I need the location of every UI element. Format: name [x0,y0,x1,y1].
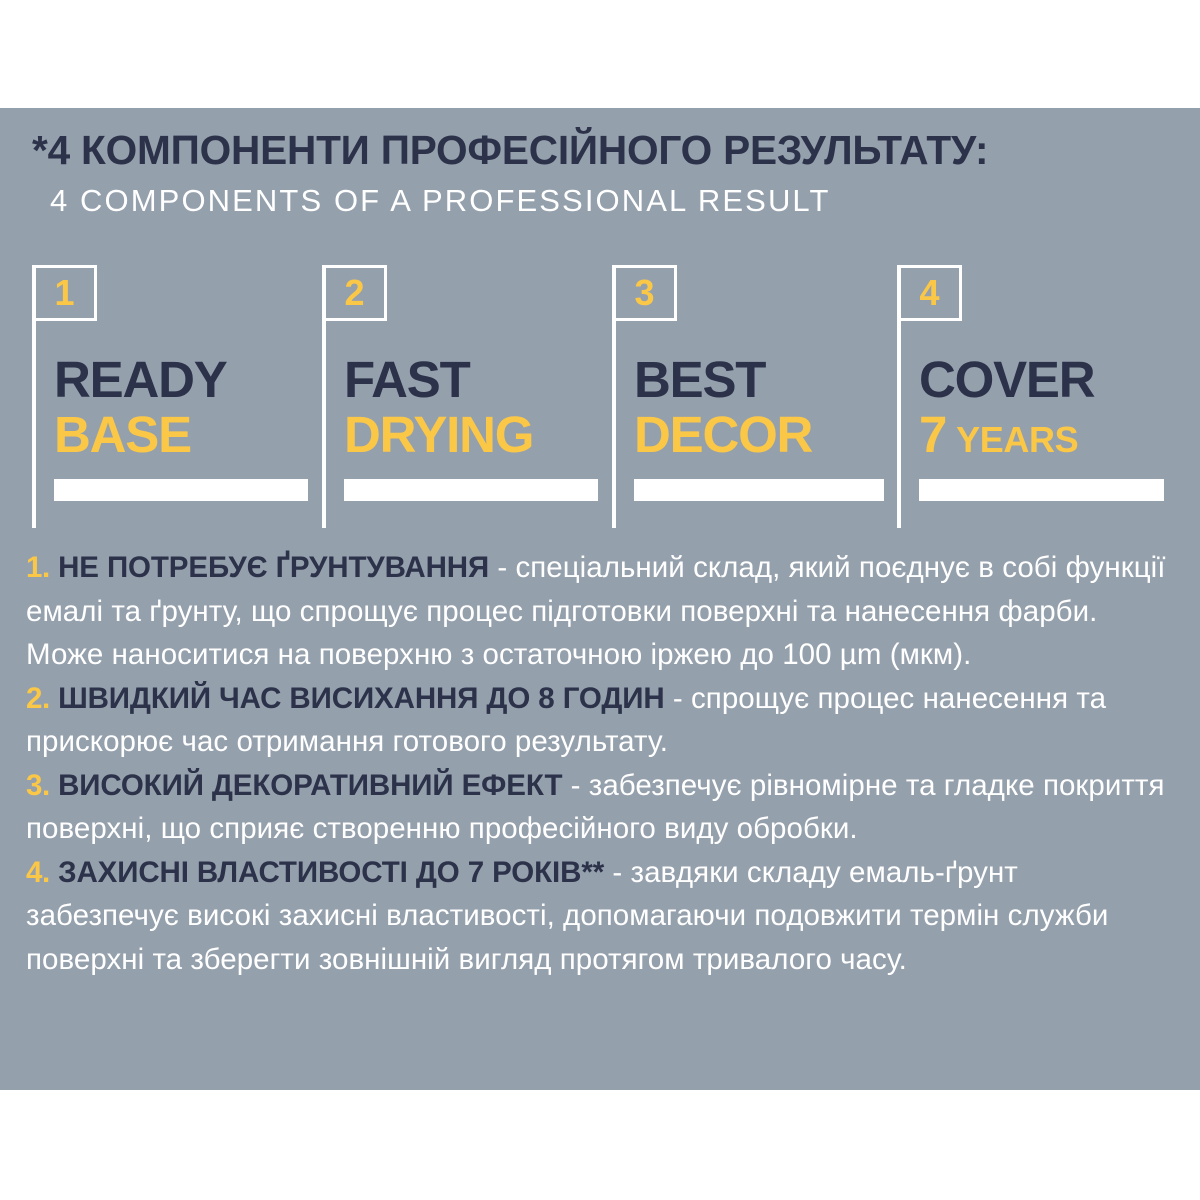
flag-word-bottom: DRYING [344,407,604,463]
flag-number-box: 3 [612,265,677,321]
flag-word-bottom-main: BASE [54,406,191,463]
benefit-lead: ЗАХИСНІ ВЛАСТИВОСТІ ДО 7 РОКІВ** [58,856,604,889]
flag-word-bottom-main: DRYING [344,406,533,463]
flag-number-box: 1 [32,265,97,321]
benefit-index: 1. [26,551,50,584]
flag-word-bottom-main: 7 [919,406,946,463]
flag-word-bottom: DECOR [634,407,894,463]
header-block: *4 КОМПОНЕНТИ ПРОФЕСІЙНОГО РЕЗУЛЬТАТУ: 4… [32,128,1172,220]
flag-word-bottom: BASE [54,407,314,463]
benefit-index: 2. [26,682,50,715]
benefit-item-4: 4. ЗАХИСНІ ВЛАСТИВОСТІ ДО 7 РОКІВ** - за… [26,851,1176,982]
page-subtitle: 4 COMPONENTS OF A PROFESSIONAL RESULT [50,182,1172,220]
feature-flags-row: 1 READY BASE 2 FAST DRYING [32,263,1172,528]
flag-word-bottom-small: YEARS [956,419,1078,460]
flag-number: 2 [325,275,384,311]
feature-flag-4: 4 COVER 7YEARS [897,263,1172,528]
flag-number: 1 [35,275,94,311]
feature-flag-3: 3 BEST DECOR [612,263,897,528]
flag-word-bottom-main: DECOR [634,406,812,463]
infographic-panel: *4 КОМПОНЕНТИ ПРОФЕСІЙНОГО РЕЗУЛЬТАТУ: 4… [0,108,1200,1090]
flag-underbar [634,479,884,501]
flag-underbar [54,479,308,501]
flag-word-top: COVER [919,353,1179,407]
flag-words: COVER 7YEARS [919,353,1179,468]
flag-word-bottom: 7YEARS [919,407,1179,468]
page-title: *4 КОМПОНЕНТИ ПРОФЕСІЙНОГО РЕЗУЛЬТАТУ: [32,128,1161,172]
benefit-index: 3. [26,769,50,802]
flag-number: 3 [615,275,674,311]
benefit-item-2: 2. ШВИДКИЙ ЧАС ВИСИХАННЯ ДО 8 ГОДИН - сп… [26,677,1176,764]
feature-flag-1: 1 READY BASE [32,263,322,528]
benefit-lead: ШВИДКИЙ ЧАС ВИСИХАННЯ ДО 8 ГОДИН [58,682,665,715]
benefit-item-1: 1. НЕ ПОТРЕБУЄ ҐРУНТУВАННЯ - спеціальний… [26,546,1176,677]
flag-words: BEST DECOR [634,353,894,463]
benefit-item-3: 3. ВИСОКИЙ ДЕКОРАТИВНИЙ ЕФЕКТ - забезпеч… [26,764,1176,851]
benefit-lead: ВИСОКИЙ ДЕКОРАТИВНИЙ ЕФЕКТ [58,769,562,802]
flag-number-box: 2 [322,265,387,321]
benefits-list: 1. НЕ ПОТРЕБУЄ ҐРУНТУВАННЯ - спеціальний… [26,546,1176,981]
flag-words: READY BASE [54,353,314,463]
flag-word-top: READY [54,353,314,407]
flag-underbar [919,479,1164,501]
flag-number: 4 [900,275,959,311]
flag-number-box: 4 [897,265,962,321]
feature-flag-2: 2 FAST DRYING [322,263,612,528]
benefit-lead: НЕ ПОТРЕБУЄ ҐРУНТУВАННЯ [58,551,489,584]
flag-word-top: BEST [634,353,894,407]
flag-underbar [344,479,598,501]
flag-word-top: FAST [344,353,604,407]
flag-words: FAST DRYING [344,353,604,463]
benefit-index: 4. [26,856,50,889]
